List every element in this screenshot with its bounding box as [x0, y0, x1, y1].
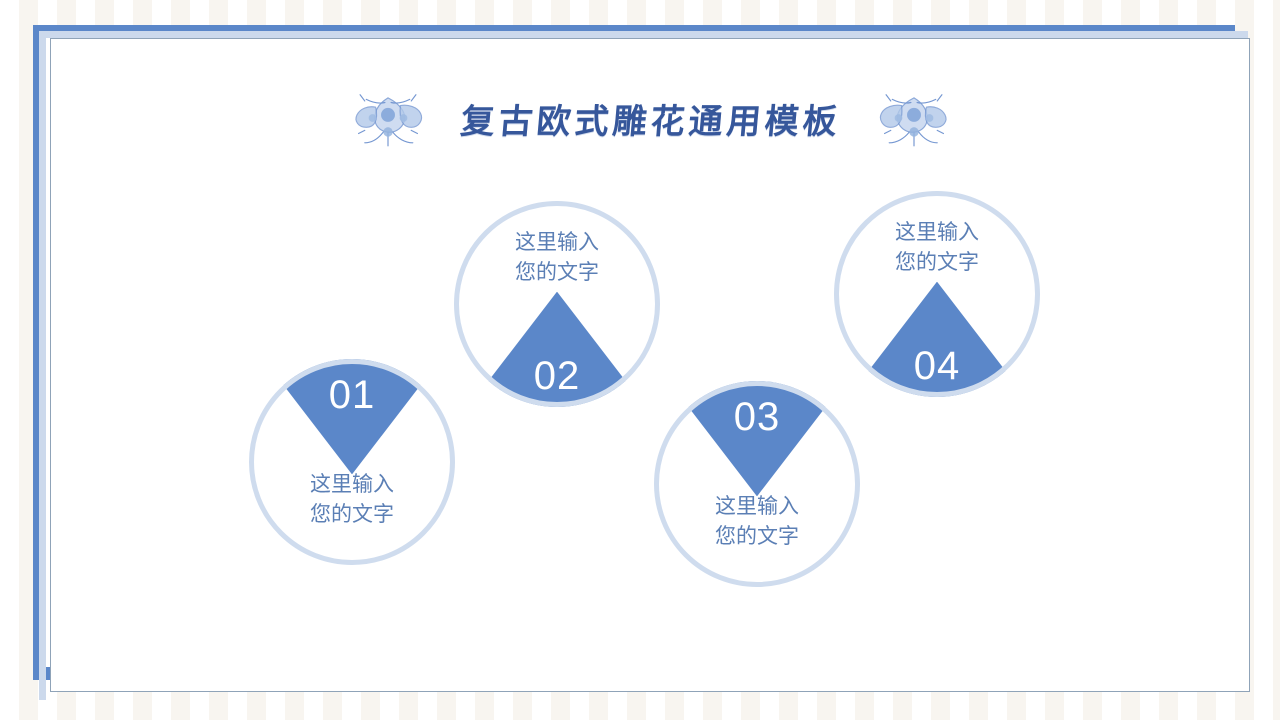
step-node-04[interactable]: 04 这里输入 您的文字: [834, 191, 1040, 397]
step-node-03-label: 这里输入 您的文字: [654, 492, 860, 552]
step-node-02-label-line2: 您的文字: [454, 258, 660, 288]
step-node-01[interactable]: 01 这里输入 您的文字: [249, 359, 455, 565]
step-node-03-label-line1: 这里输入: [654, 492, 860, 522]
step-node-03-number: 03: [654, 395, 860, 440]
step-node-03-label-line2: 您的文字: [654, 522, 860, 552]
step-node-01-label-line2: 您的文字: [249, 500, 455, 530]
step-node-01-number: 01: [249, 373, 455, 418]
slide-content-card: 复古欧式雕花通用模板: [50, 38, 1250, 692]
step-node-04-label-line1: 这里输入: [834, 218, 1040, 248]
floral-ornament-right-icon: [875, 87, 953, 149]
step-node-02[interactable]: 02 这里输入 您的文字: [454, 201, 660, 407]
step-node-02-label-line1: 这里输入: [454, 228, 660, 258]
step-node-03[interactable]: 03 这里输入 您的文字: [654, 381, 860, 587]
step-node-04-number: 04: [834, 344, 1040, 389]
step-node-02-label: 这里输入 您的文字: [454, 228, 660, 288]
step-node-04-label-line2: 您的文字: [834, 248, 1040, 278]
step-node-02-number: 02: [454, 354, 660, 399]
step-node-04-label: 这里输入 您的文字: [834, 218, 1040, 278]
step-node-01-label: 这里输入 您的文字: [249, 470, 455, 530]
slide-canvas: 复古欧式雕花通用模板: [0, 0, 1280, 720]
floral-ornament-left-icon: [349, 87, 427, 149]
page-title: 复古欧式雕花通用模板: [459, 94, 843, 143]
step-node-01-label-line1: 这里输入: [249, 470, 455, 500]
title-row: 复古欧式雕花通用模板: [51, 87, 1251, 149]
